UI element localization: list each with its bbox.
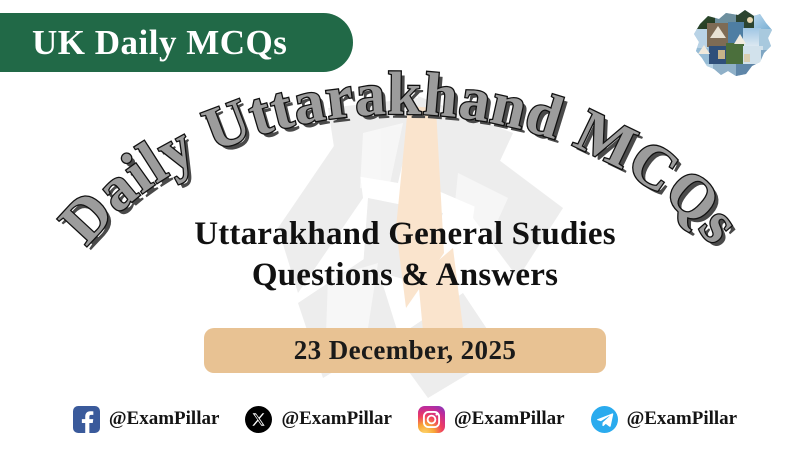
badge-label: UK Daily MCQs <box>0 23 287 63</box>
telegram-icon[interactable] <box>591 406 618 433</box>
social-item-instagram[interactable]: @ExamPillar <box>418 406 565 433</box>
social-links-bar: @ExamPillar @ExamPillar <box>0 402 810 436</box>
facebook-handle: @ExamPillar <box>109 408 220 430</box>
instagram-handle: @ExamPillar <box>454 408 565 430</box>
date-banner: 23 December, 2025 <box>204 328 606 373</box>
headline-line-1: Uttarakhand General Studies <box>0 214 810 255</box>
headline-block: Uttarakhand General Studies Questions & … <box>0 214 810 296</box>
x-handle: @ExamPillar <box>281 408 392 430</box>
date-text: 23 December, 2025 <box>294 335 517 366</box>
uk-daily-mcqs-badge: UK Daily MCQs <box>0 13 353 72</box>
instagram-icon[interactable] <box>418 406 445 433</box>
social-item-telegram[interactable]: @ExamPillar <box>591 406 738 433</box>
facebook-icon[interactable] <box>73 406 100 433</box>
telegram-handle: @ExamPillar <box>627 408 738 430</box>
mcq-poster: UK Daily MCQs <box>0 0 810 450</box>
social-item-x[interactable]: @ExamPillar <box>245 406 392 433</box>
x-twitter-icon[interactable] <box>245 406 272 433</box>
headline-line-2: Questions & Answers <box>0 255 810 296</box>
uttarakhand-state-map-collage-icon <box>688 4 776 80</box>
social-item-facebook[interactable]: @ExamPillar <box>73 406 220 433</box>
